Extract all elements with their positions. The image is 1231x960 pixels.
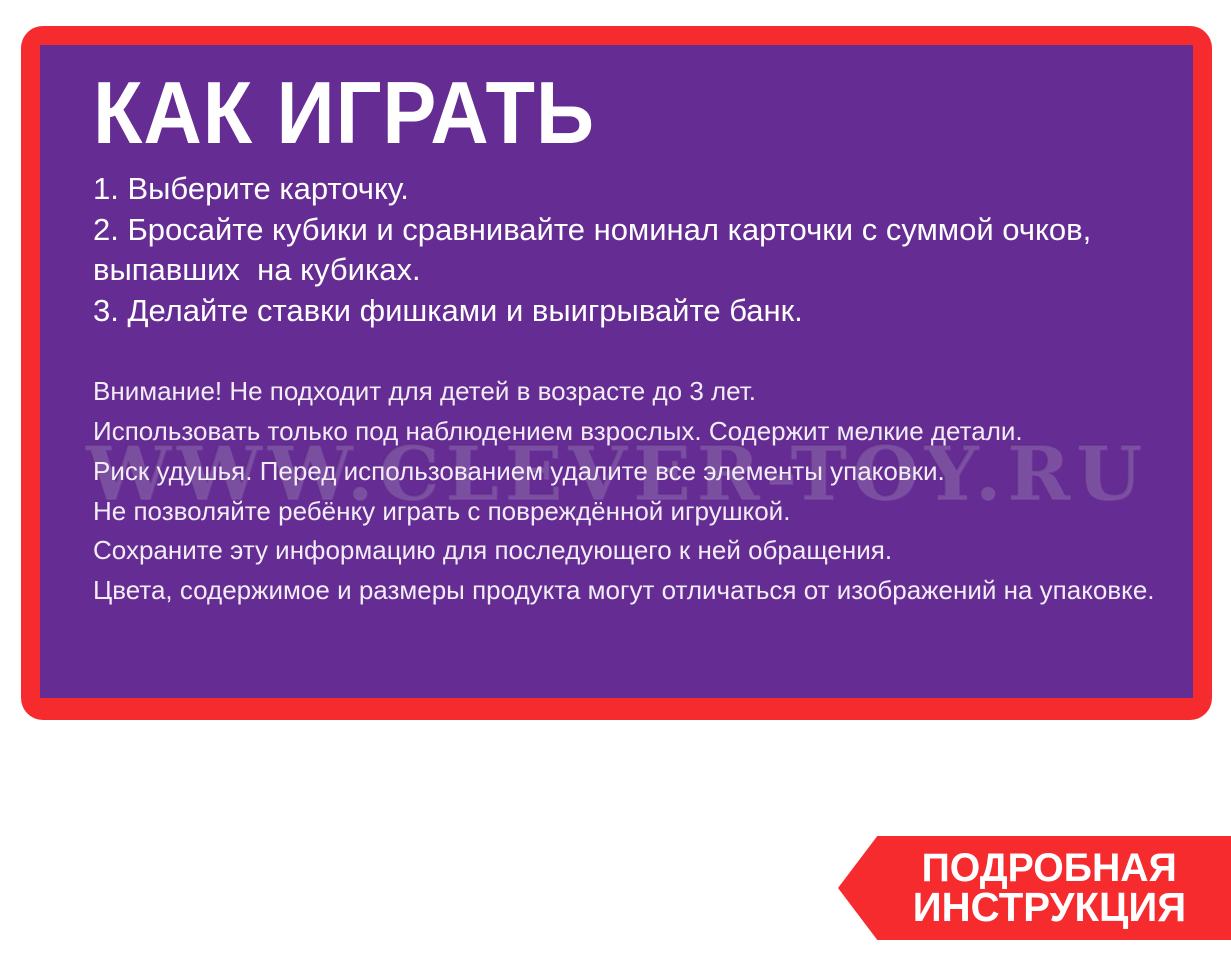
list-item: Не позволяйте ребёнку играть с повреждён…	[93, 492, 1157, 532]
list-item: 1. Выберите карточку.	[93, 169, 1093, 210]
list-item: Сохраните эту информацию для последующег…	[93, 531, 1157, 571]
list-item: 2. Бросайте кубики и сравнивайте номинал…	[93, 210, 1093, 292]
badge-line-1: ПОДРОБНАЯ	[922, 849, 1177, 888]
list-item: Внимание! Не подходит для детей в возрас…	[93, 372, 1157, 412]
detailed-instruction-badge: ПОДРОБНАЯ ИНСТРУКЦИЯ	[838, 836, 1231, 940]
list-item: 3. Делайте ставки фишками и выигрывайте …	[93, 291, 1093, 332]
steps-list: 1. Выберите карточку. 2. Бросайте кубики…	[93, 169, 1093, 333]
instruction-panel: WWW.CLEVER-TOY.RU КАК ИГРАТЬ 1. Выберите…	[40, 45, 1193, 698]
list-item: Использовать только под наблюдением взро…	[93, 412, 1157, 452]
list-item: Риск удушья. Перед использованием удалит…	[93, 452, 1157, 492]
warnings-list: Внимание! Не подходит для детей в возрас…	[93, 372, 1157, 611]
page-title: КАК ИГРАТЬ	[93, 71, 1072, 155]
instruction-card: WWW.CLEVER-TOY.RU КАК ИГРАТЬ 1. Выберите…	[21, 26, 1212, 720]
list-item: Цвета, содержимое и размеры продукта мог…	[93, 571, 1157, 611]
badge-line-2: ИНСТРУКЦИЯ	[913, 888, 1186, 928]
